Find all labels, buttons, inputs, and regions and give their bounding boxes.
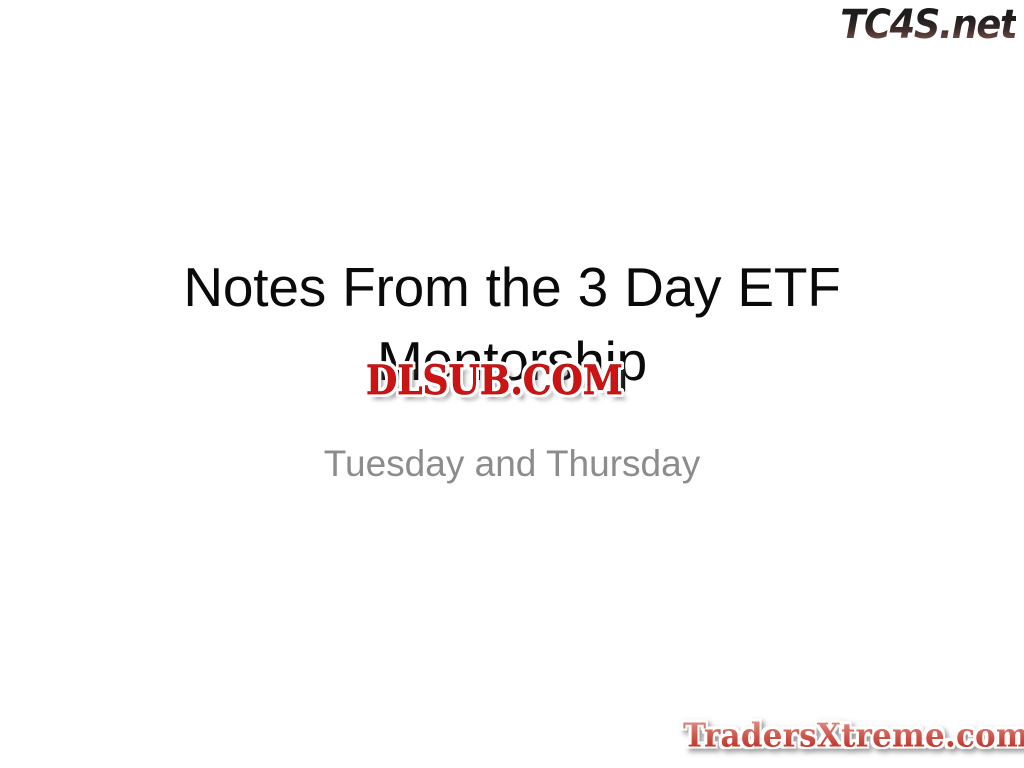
dlsub-watermark: DLSUB.COM xyxy=(366,358,623,403)
slide-subtitle: Tuesday and Thursday xyxy=(112,441,912,487)
tradersxtreme-watermark: TradersXtreme.com xyxy=(683,716,1024,756)
presentation-slide: TC4S.net Notes From the 3 Day ETF Mentor… xyxy=(0,0,1024,768)
subtitle-placeholder[interactable]: Tuesday and Thursday xyxy=(112,441,912,487)
tc4s-watermark: TC4S.net xyxy=(840,2,1016,48)
